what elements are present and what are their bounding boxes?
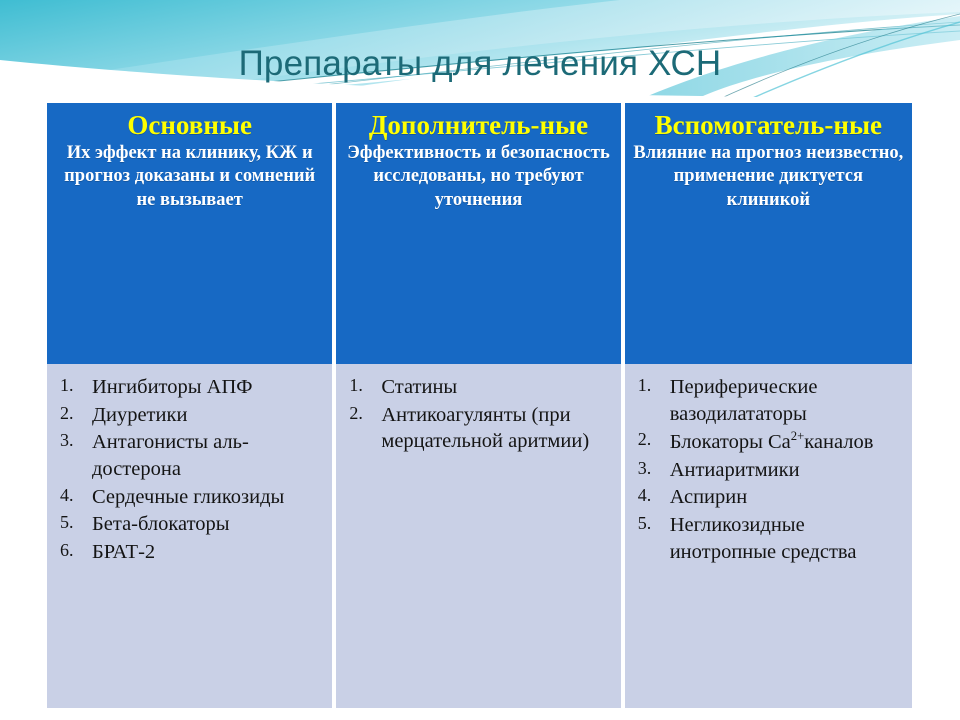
list-number: 2. (631, 428, 670, 451)
list-text: Сердечные гликозиды (92, 484, 326, 511)
list-text-calcium: Блокаторы Ca2+каналов (670, 428, 906, 455)
list-item: 1.Периферические вазодилататоры (631, 374, 906, 427)
drug-list-additional: 1.Статины 2.Антикоагулянты (при мерцател… (342, 374, 614, 455)
header-subtitle-auxiliary: Влияние на прогноз неизвестно, применени… (633, 142, 904, 212)
header-subtitle-additional: Эффективность и безопасность исследованы… (344, 142, 612, 212)
list-number: 2. (342, 402, 381, 425)
list-item: 5.Бета-блокаторы (53, 511, 326, 538)
list-text: Антиаритмики (670, 457, 906, 484)
list-number: 5. (53, 511, 92, 534)
list-number: 1. (53, 374, 92, 397)
list-number: 2. (53, 402, 92, 425)
list-item: 3.Антагонисты аль-достерона (53, 429, 326, 482)
list-text: Бета-блокаторы (92, 511, 326, 538)
header-cell-main: Основные Их эффект на клинику, КЖ и прог… (47, 103, 332, 364)
list-number: 6. (53, 539, 92, 562)
list-text: Периферические вазодилататоры (670, 374, 906, 427)
header-cell-auxiliary: Вспомогатель-ные Влияние на прогноз неиз… (625, 103, 912, 364)
list-text: Статины (381, 374, 614, 401)
list-number: 3. (53, 429, 92, 452)
drug-table: Основные Их эффект на клинику, КЖ и прог… (47, 103, 912, 708)
header-title-additional: Дополнитель-ные (344, 111, 612, 140)
header-title-auxiliary: Вспомогатель-ные (633, 111, 904, 140)
list-text: Диуретики (92, 402, 326, 429)
drug-list-auxiliary: 1.Периферические вазодилататоры 2.Блокат… (631, 374, 906, 565)
list-text: Антикоагулянты (при мерцательной аритмии… (381, 402, 614, 455)
body-cell-additional: 1.Статины 2.Антикоагулянты (при мерцател… (336, 364, 620, 708)
list-item: 2.Блокаторы Ca2+каналов (631, 428, 906, 455)
list-item: 4.Сердечные гликозиды (53, 484, 326, 511)
header-cell-additional: Дополнитель-ные Эффективность и безопасн… (336, 103, 620, 364)
list-number: 4. (53, 484, 92, 507)
list-text: БРАТ-2 (92, 539, 326, 566)
list-item: 5.Негликозидные инотропные средства (631, 512, 906, 565)
table-body-row: 1.Ингибиторы АПФ 2.Диуретики 3.Антагонис… (47, 364, 912, 708)
slide-title: Препараты для лечения ХСН (0, 44, 960, 84)
slide: Препараты для лечения ХСН Основные Их эф… (0, 0, 960, 720)
header-subtitle-main: Их эффект на клинику, КЖ и прогноз доказ… (55, 142, 324, 212)
list-item: 6.БРАТ-2 (53, 539, 326, 566)
list-item: 1.Ингибиторы АПФ (53, 374, 326, 401)
list-text: Аспирин (670, 484, 906, 511)
header-title-main: Основные (55, 111, 324, 140)
drug-list-main: 1.Ингибиторы АПФ 2.Диуретики 3.Антагонис… (53, 374, 326, 565)
list-number: 3. (631, 457, 670, 480)
list-number: 4. (631, 484, 670, 507)
list-item: 1.Статины (342, 374, 614, 401)
list-text: Антагонисты аль-достерона (92, 429, 326, 482)
list-number: 5. (631, 512, 670, 535)
calcium-tail: каналов (804, 431, 873, 453)
body-cell-main: 1.Ингибиторы АПФ 2.Диуретики 3.Антагонис… (47, 364, 332, 708)
list-text: Негликозидные инотропные средства (670, 512, 906, 565)
table-header-row: Основные Их эффект на клинику, КЖ и прог… (47, 103, 912, 364)
list-number: 1. (342, 374, 381, 397)
list-number: 1. (631, 374, 670, 397)
calcium-base: Блокаторы Ca (670, 431, 791, 453)
list-item: 2.Диуретики (53, 402, 326, 429)
list-item: 4.Аспирин (631, 484, 906, 511)
calcium-charge: 2+ (791, 429, 805, 443)
list-item: 2.Антикоагулянты (при мерцательной аритм… (342, 402, 614, 455)
list-text: Ингибиторы АПФ (92, 374, 326, 401)
body-cell-auxiliary: 1.Периферические вазодилататоры 2.Блокат… (625, 364, 912, 708)
list-item: 3.Антиаритмики (631, 457, 906, 484)
